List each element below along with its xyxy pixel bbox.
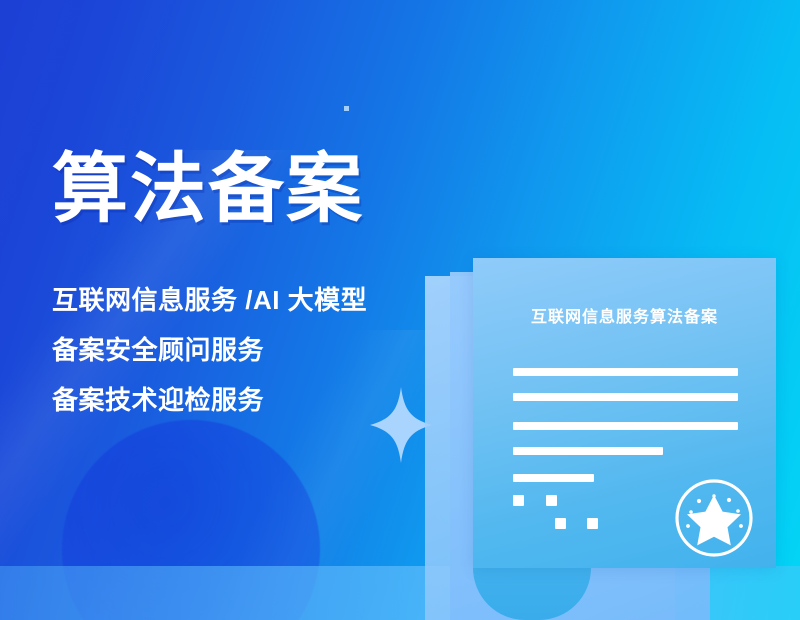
document-text-line	[513, 474, 594, 482]
list-item-service-1: 互联网信息服务 /AI 大模型	[52, 287, 452, 313]
algorithm-filing-banner: 算法备案 互联网信息服务 /AI 大模型 备案安全顾问服务 备案技术迎检服务 互…	[0, 0, 800, 620]
service-list: 互联网信息服务 /AI 大模型 备案安全顾问服务 备案技术迎检服务	[52, 287, 452, 413]
document-text-line	[513, 422, 738, 430]
large-background-circle-icon	[62, 420, 320, 620]
document-text-dot	[546, 495, 557, 506]
document-card-title: 互联网信息服务算法备案	[473, 303, 776, 327]
page-title: 算法备案	[52, 150, 452, 231]
document-text-line	[513, 393, 738, 401]
list-item-service-3: 备案技术迎检服务	[52, 387, 452, 413]
star-seal-icon	[672, 476, 756, 560]
banner-text-block: 算法备案 互联网信息服务 /AI 大模型 备案安全顾问服务 备案技术迎检服务	[52, 150, 452, 413]
document-card-front: 互联网信息服务算法备案	[473, 258, 776, 568]
list-item-service-2: 备案安全顾问服务	[52, 337, 452, 363]
document-text-line	[513, 368, 738, 376]
document-text-line	[513, 447, 663, 455]
document-text-dot	[513, 495, 524, 506]
document-text-dot	[587, 518, 598, 529]
document-text-dot	[555, 518, 566, 529]
small-dot-icon	[344, 106, 349, 111]
document-card-stack: 互联网信息服务算法备案	[420, 258, 800, 620]
